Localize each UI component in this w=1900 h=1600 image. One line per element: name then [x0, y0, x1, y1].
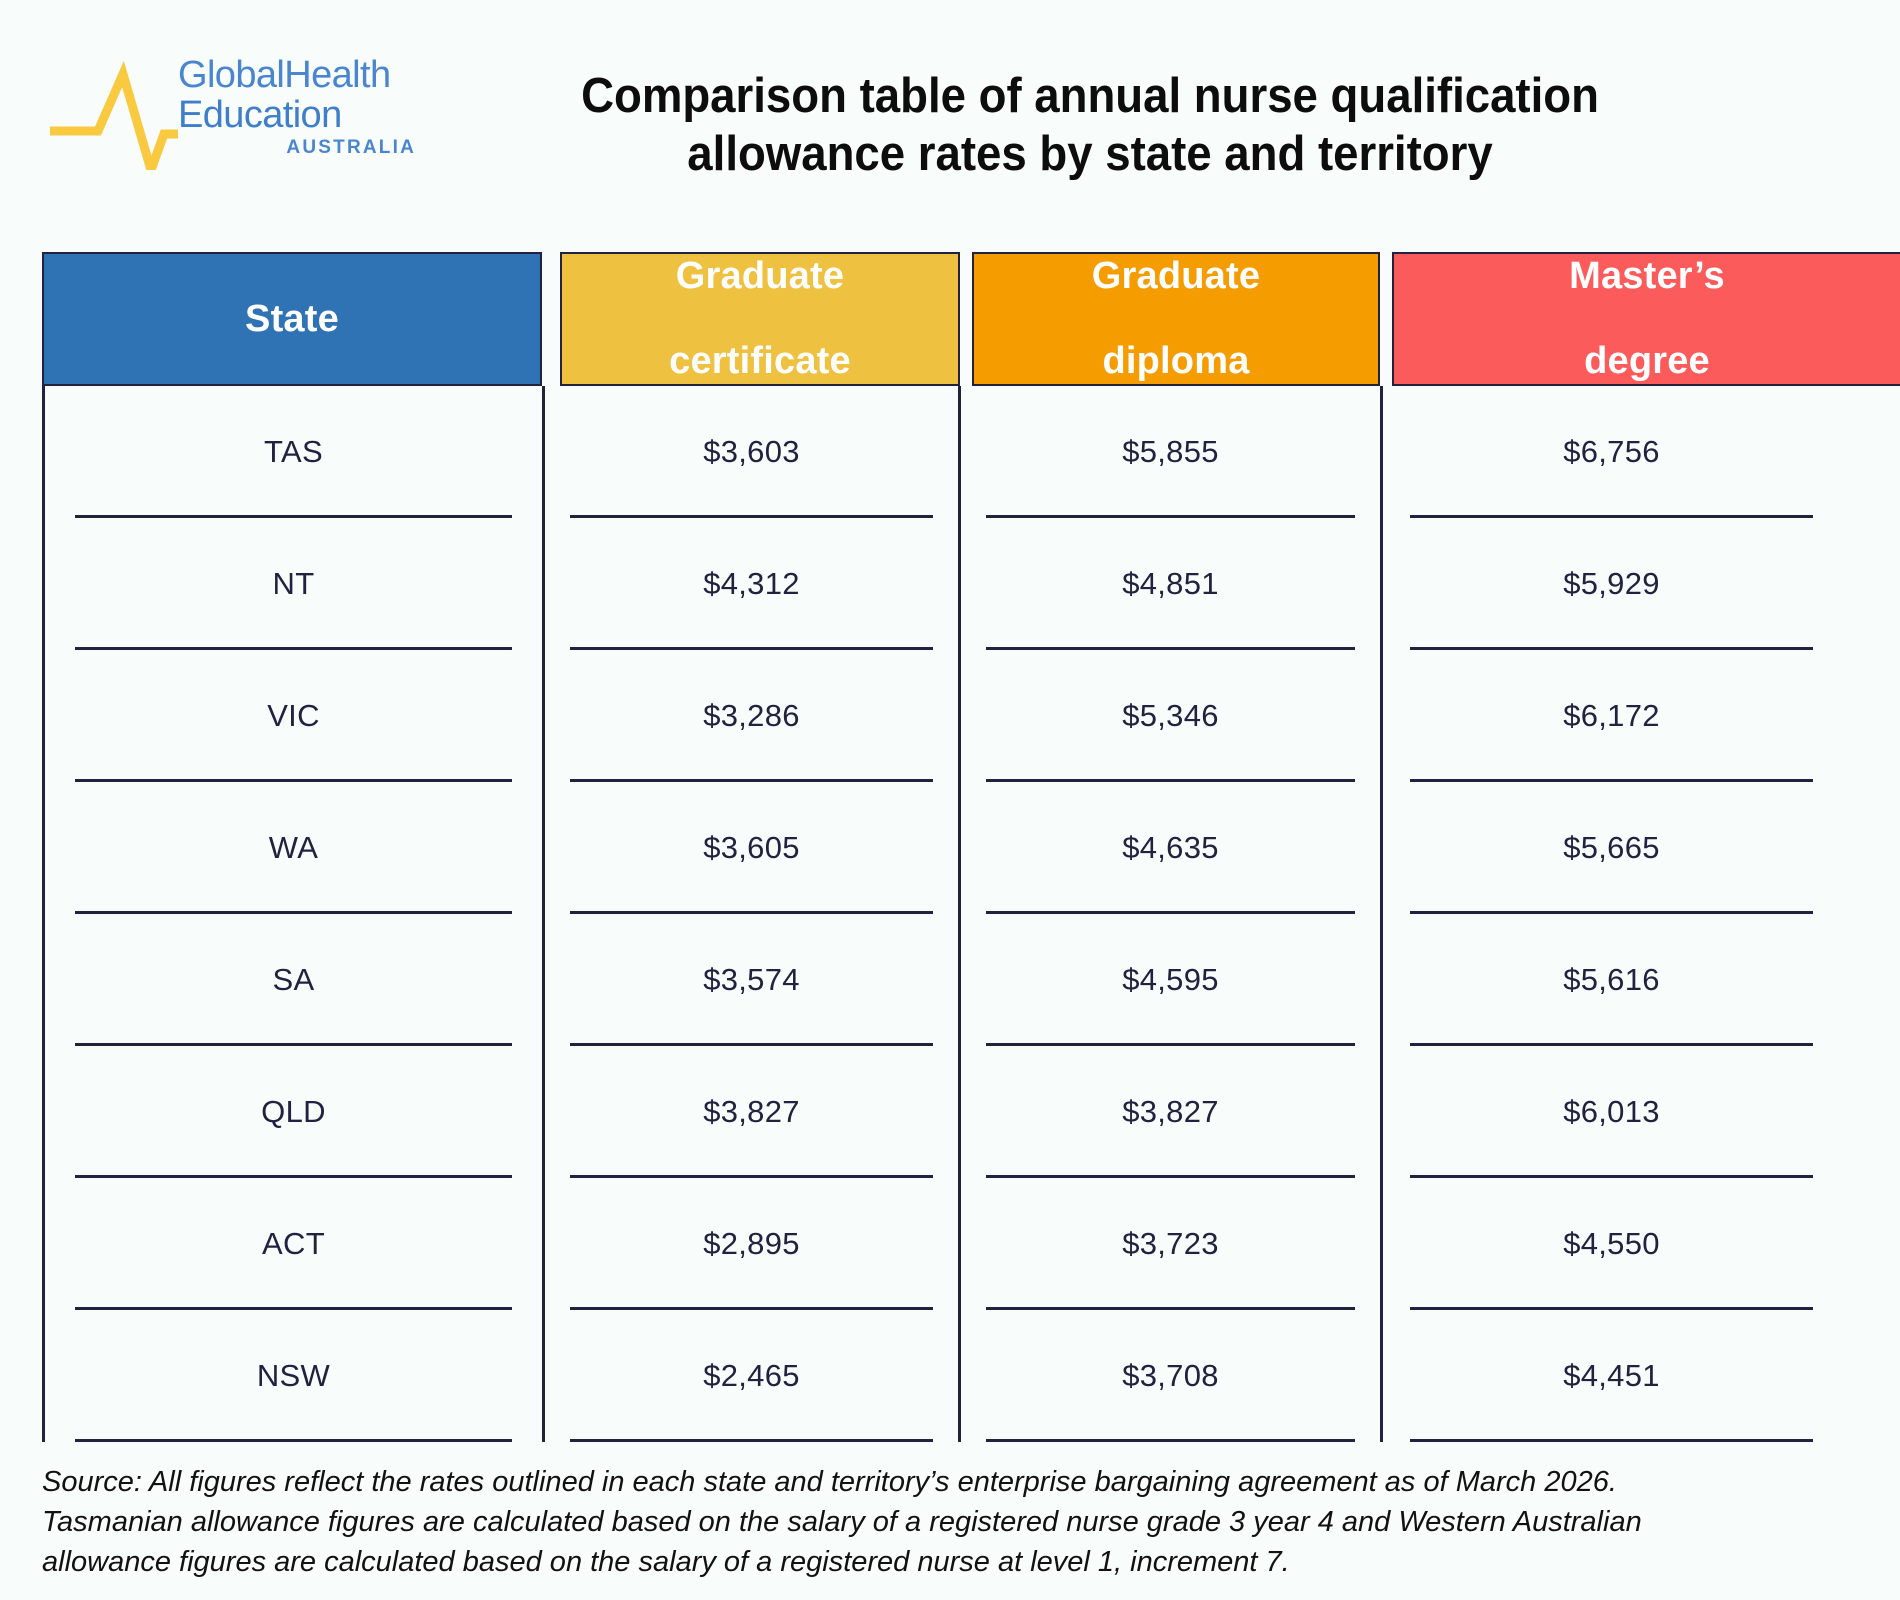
- column-header-masters-line1: Master’s: [1559, 255, 1735, 298]
- column-header-masters-line2: degree: [1559, 340, 1735, 383]
- source-note-line-2: Tasmanian allowance figures are calculat…: [42, 1502, 1832, 1542]
- table-cell: $4,451: [1383, 1310, 1840, 1442]
- source-note-line-3: allowance figures are calculated based o…: [42, 1542, 1832, 1582]
- column-graduate-diploma: $5,855 $4,851 $5,346 $4,635 $4,595 $3,82…: [961, 386, 1380, 1442]
- table-cell: $4,595: [961, 914, 1380, 1046]
- table-cell: VIC: [45, 650, 542, 782]
- column-header-gradcert-line2: certificate: [659, 340, 861, 383]
- table-cell: TAS: [45, 386, 542, 518]
- table-cell: WA: [45, 782, 542, 914]
- column-header-graddip-line2: diploma: [1082, 340, 1270, 383]
- pulse-line-icon: [48, 58, 178, 170]
- column-header-graddip-line1: Graduate: [1082, 255, 1270, 298]
- column-header-gradcert-line1: Graduate: [659, 255, 861, 298]
- column-header-masters-degree: Master’s degree: [1392, 252, 1900, 386]
- table-cell: $3,574: [545, 914, 958, 1046]
- table-cell: $6,756: [1383, 386, 1840, 518]
- page-title: Comparison table of annual nurse qualifi…: [486, 68, 1695, 184]
- table-cell: $4,312: [545, 518, 958, 650]
- column-masters-degree: $6,756 $5,929 $6,172 $5,665 $5,616 $6,01…: [1383, 386, 1840, 1442]
- page-title-line-1: Comparison table of annual nurse qualifi…: [486, 68, 1695, 126]
- column-header-state-line1: State: [235, 298, 349, 341]
- table-cell: NSW: [45, 1310, 542, 1442]
- table-cell: $6,013: [1383, 1046, 1840, 1178]
- table-header-row: State Graduate certificate Graduate dipl…: [0, 252, 1900, 386]
- column-header-graduate-diploma: Graduate diploma: [972, 252, 1380, 386]
- table-cell: $5,929: [1383, 518, 1840, 650]
- brand-line-3: AUSTRALIA: [178, 138, 418, 157]
- source-note-line-1: Source: All figures reflect the rates ou…: [42, 1462, 1832, 1502]
- brand-line-2: Education: [178, 96, 418, 134]
- table-cell: $3,723: [961, 1178, 1380, 1310]
- table-cell: $3,827: [545, 1046, 958, 1178]
- column-state: TAS NT VIC WA SA QLD ACT NSW: [45, 386, 542, 1442]
- brand-line-1: GlobalHealth: [178, 56, 418, 94]
- column-header-graduate-certificate: Graduate certificate: [560, 252, 960, 386]
- table-cell: $5,616: [1383, 914, 1840, 1046]
- table-cell: $4,550: [1383, 1178, 1840, 1310]
- table-cell: $3,286: [545, 650, 958, 782]
- table-cell: $5,665: [1383, 782, 1840, 914]
- table-cell: ACT: [45, 1178, 542, 1310]
- table-cell: $5,855: [961, 386, 1380, 518]
- table-cell: $5,346: [961, 650, 1380, 782]
- page-title-line-2: allowance rates by state and territory: [486, 126, 1695, 184]
- table-cell: $2,465: [545, 1310, 958, 1442]
- comparison-table: State Graduate certificate Graduate dipl…: [0, 252, 1900, 1442]
- page-header: GlobalHealth Education AUSTRALIA Compari…: [0, 0, 1900, 200]
- table-body: TAS NT VIC WA SA QLD ACT NSW $3,603 $4,3…: [0, 386, 1900, 1442]
- source-note: Source: All figures reflect the rates ou…: [42, 1462, 1832, 1582]
- brand-logo: GlobalHealth Education AUSTRALIA: [48, 58, 378, 170]
- table-cell: QLD: [45, 1046, 542, 1178]
- table-cell: NT: [45, 518, 542, 650]
- table-cell: $4,635: [961, 782, 1380, 914]
- column-header-state: State: [42, 252, 542, 386]
- table-cell: $3,603: [545, 386, 958, 518]
- table-cell: $4,851: [961, 518, 1380, 650]
- brand-wordmark: GlobalHealth Education AUSTRALIA: [178, 56, 418, 157]
- table-cell: $3,708: [961, 1310, 1380, 1442]
- table-cell: $2,895: [545, 1178, 958, 1310]
- table-cell: SA: [45, 914, 542, 1046]
- column-graduate-certificate: $3,603 $4,312 $3,286 $3,605 $3,574 $3,82…: [545, 386, 958, 1442]
- table-cell: $3,827: [961, 1046, 1380, 1178]
- table-cell: $6,172: [1383, 650, 1840, 782]
- table-cell: $3,605: [545, 782, 958, 914]
